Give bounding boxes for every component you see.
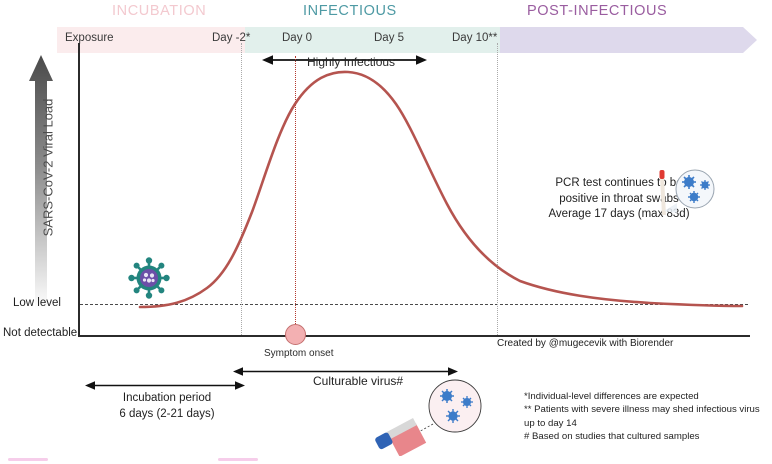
incubation-period-label: Incubation period 6 days (2-21 days)	[92, 390, 242, 422]
timeline-label-day-5: Day 5	[374, 32, 404, 44]
footnote-3: # Based on studies that cultured samples	[524, 430, 772, 443]
y-axis-title: SARS-CoV-2 Viral Load	[41, 58, 56, 278]
footnote-1: *Individual-level differences are expect…	[524, 390, 772, 403]
timeline-label-day-0: Day 0	[282, 32, 312, 44]
timeline-label-day-minus-2: Day -2*	[212, 32, 250, 44]
virus-particle-icon	[128, 257, 170, 299]
timeline-label-exposure: Exposure	[65, 32, 114, 44]
timeline-band-post-infectious	[500, 27, 757, 53]
cell-culture-flask-icon	[375, 378, 491, 456]
guideline-day-minus-2	[241, 43, 242, 335]
incubation-period-line-1: Incubation period	[92, 390, 242, 406]
footnote-2: ** Patients with severe illness may shed…	[524, 403, 772, 430]
viral-load-infographic: INCUBATION INFECTIOUS POST-INFECTIOUS Ex…	[0, 0, 772, 464]
phase-title-post-infectious: POST-INFECTIOUS	[527, 3, 667, 19]
guideline-day-0	[295, 56, 296, 328]
credit-text: Created by @mugecevik with Biorender	[497, 338, 673, 349]
footnotes: *Individual-level differences are expect…	[524, 390, 772, 444]
timeline-label-day-10: Day 10**	[452, 32, 497, 44]
y-axis-line	[78, 43, 80, 336]
incubation-period-arrow	[85, 378, 245, 389]
timeline-banner: Exposure Day -2* Day 0 Day 5 Day 10**	[57, 27, 757, 53]
x-axis-line	[78, 335, 750, 337]
throat-swab-icon	[655, 167, 717, 219]
y-axis-label-low-level: Low level	[13, 297, 61, 309]
highly-infectious-label: Highly Infectious	[307, 55, 395, 69]
phase-title-incubation: INCUBATION	[112, 3, 206, 19]
decorative-mark-left	[8, 458, 48, 461]
low-level-reference-line	[80, 304, 748, 305]
phase-title-infectious: INFECTIOUS	[303, 3, 397, 19]
symptom-onset-label: Symptom onset	[264, 348, 333, 359]
incubation-period-line-2: 6 days (2-21 days)	[92, 406, 242, 422]
guideline-day-10	[497, 43, 498, 335]
y-axis-label-not-detectable: Not detectable	[3, 327, 77, 339]
decorative-mark-center	[218, 458, 258, 461]
symptom-onset-marker	[285, 324, 306, 345]
